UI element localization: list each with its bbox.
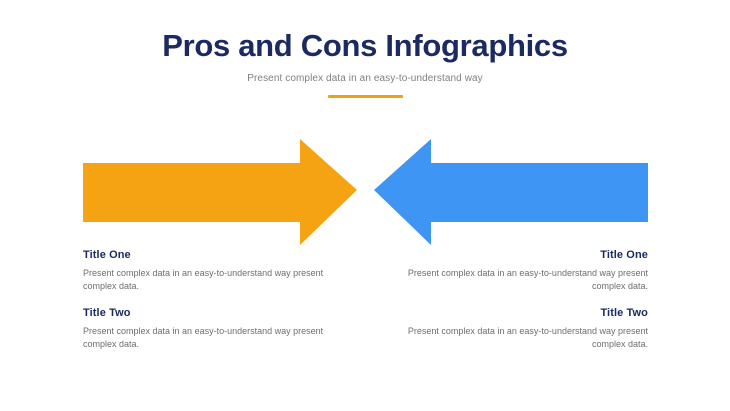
item-title: Title Two xyxy=(83,306,345,320)
pros-arrow-shape[interactable] xyxy=(83,139,357,245)
header: Pros and Cons Infographics Present compl… xyxy=(0,28,730,98)
accent-divider xyxy=(328,95,403,98)
arrows-group: Pros Cons xyxy=(0,135,730,250)
cons-arrow-shape[interactable] xyxy=(374,139,648,245)
arrows-svg xyxy=(0,135,730,250)
item-title: Title One xyxy=(386,248,648,262)
cons-detail-column: Title One Present complex data in an eas… xyxy=(386,248,648,350)
page-subtitle: Present complex data in an easy-to-under… xyxy=(0,72,730,86)
item-body: Present complex data in an easy-to-under… xyxy=(83,325,345,350)
infographic-slide: Pros and Cons Infographics Present compl… xyxy=(0,0,730,411)
item-title: Title One xyxy=(83,248,345,262)
list-item: Title Two Present complex data in an eas… xyxy=(83,306,345,350)
list-item: Title Two Present complex data in an eas… xyxy=(386,306,648,350)
page-title: Pros and Cons Infographics xyxy=(0,28,730,64)
item-body: Present complex data in an easy-to-under… xyxy=(386,267,648,292)
list-item: Title One Present complex data in an eas… xyxy=(386,248,648,292)
divider-wrap xyxy=(0,95,730,98)
list-item: Title One Present complex data in an eas… xyxy=(83,248,345,292)
item-body: Present complex data in an easy-to-under… xyxy=(83,267,345,292)
pros-detail-column: Title One Present complex data in an eas… xyxy=(83,248,345,350)
item-title: Title Two xyxy=(386,306,648,320)
item-body: Present complex data in an easy-to-under… xyxy=(386,325,648,350)
